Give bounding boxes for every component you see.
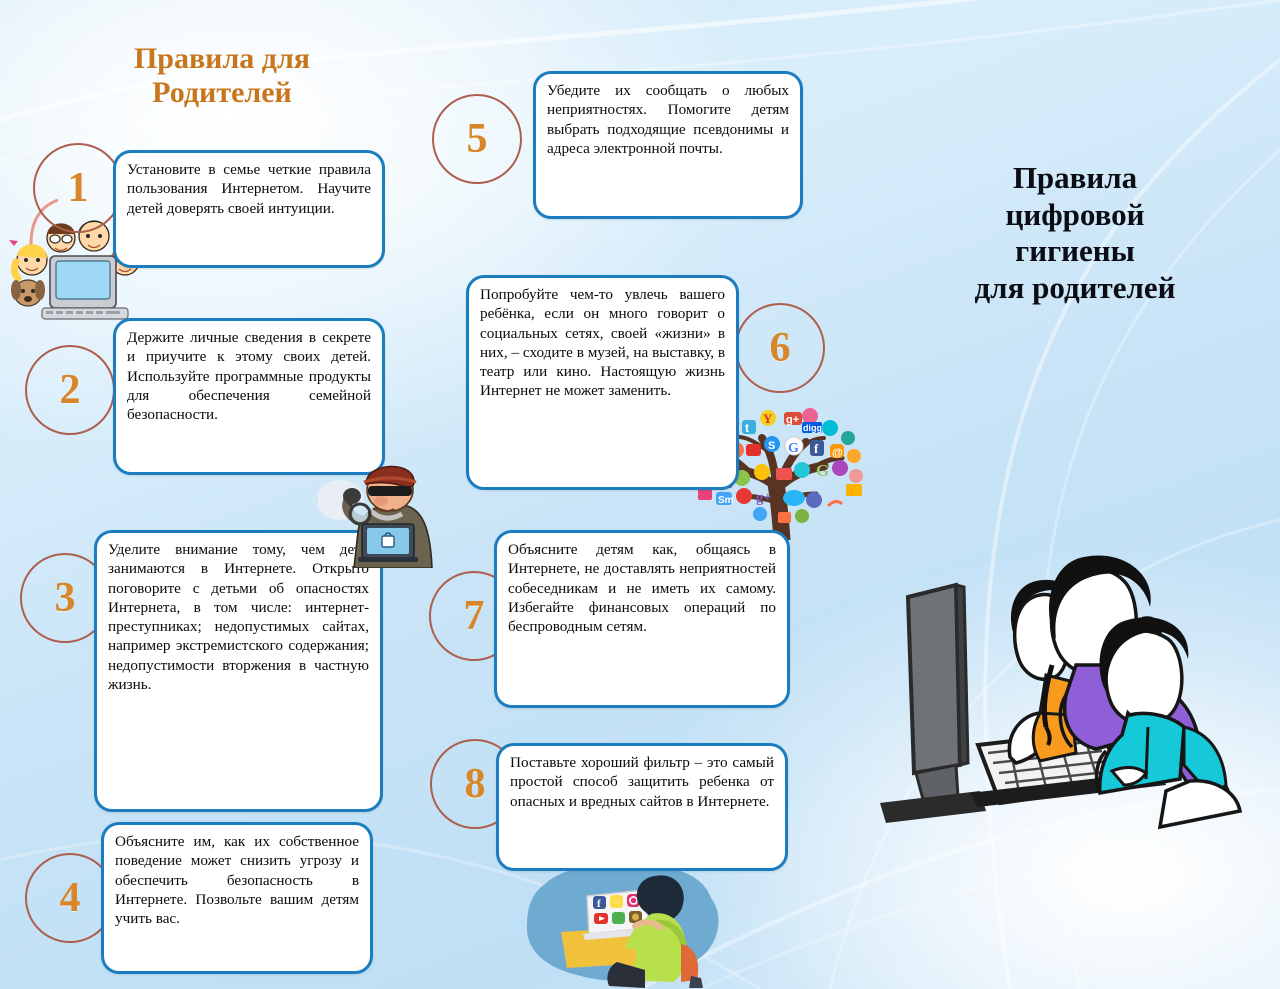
rule-box-5: Убедите их сообщать о любых неприятностя… (533, 71, 803, 219)
right-title-line-1: Правила (930, 160, 1220, 197)
rule-number-6: 6 (735, 303, 825, 393)
right-title-line-3: гигиены (930, 233, 1220, 270)
rule-text-8: Поставьте хороший фильтр – это самый про… (510, 753, 774, 811)
rule-box-8: Поставьте хороший фильтр – это самый про… (496, 743, 788, 871)
svg-text:S: S (768, 440, 775, 452)
svg-text:Sm: Sm (718, 495, 734, 506)
rule-text-2: Держите личные сведения в секрете и приу… (127, 328, 371, 424)
right-title-line-4: для родителей (930, 270, 1220, 307)
rule-box-4: Объясните им, как их собственное поведен… (101, 822, 373, 974)
rule-box-1: Установите в семье четкие правила пользо… (113, 150, 385, 268)
svg-text:g+: g+ (756, 490, 772, 506)
rule-number-2: 2 (25, 345, 115, 435)
left-title-line-1: Правила для (102, 42, 342, 76)
rule-number-5: 5 (432, 94, 522, 184)
family-at-computer-illustration (860, 535, 1260, 855)
svg-text:G: G (788, 441, 799, 456)
svg-text:G: G (816, 461, 829, 480)
rule-text-4: Объясните им, как их собственное поведен… (115, 832, 359, 928)
rule-text-5: Убедите их сообщать о любых неприятностя… (547, 81, 789, 158)
svg-text:f: f (597, 898, 601, 910)
left-title-line-2: Родителей (102, 76, 342, 110)
boy-at-laptop-with-social-icons-illustration: f (505, 858, 735, 989)
rule-text-7: Объясните детям как, общаясь в Интернете… (508, 540, 776, 636)
right-title: Правила цифровой гигиены для родителей (930, 160, 1220, 306)
poster: Правила для Родителей Правила цифровой г… (0, 0, 1280, 989)
svg-text:@: @ (832, 447, 843, 459)
svg-text:f: f (814, 441, 819, 456)
rule-box-6: Попробуйте чем-то увлечь вашего ребёнка,… (466, 275, 739, 490)
right-title-line-2: цифровой (930, 197, 1220, 234)
hacker-with-magnifier-and-laptop-illustration (318, 448, 440, 568)
left-title: Правила для Родителей (102, 42, 342, 109)
rule-text-6: Попробуйте чем-то увлечь вашего ребёнка,… (480, 285, 725, 401)
rule-number-1: 1 (33, 143, 123, 233)
svg-text:digg: digg (803, 423, 822, 433)
svg-text:t: t (745, 421, 749, 435)
rule-box-3: Уделите внимание тому, чем дети занимают… (94, 530, 383, 812)
rule-text-1: Установите в семье четкие правила пользо… (127, 160, 371, 218)
svg-text:g+: g+ (786, 414, 799, 426)
rule-box-7: Объясните детям как, общаясь в Интернете… (494, 530, 790, 708)
svg-text:Y: Y (763, 411, 773, 426)
